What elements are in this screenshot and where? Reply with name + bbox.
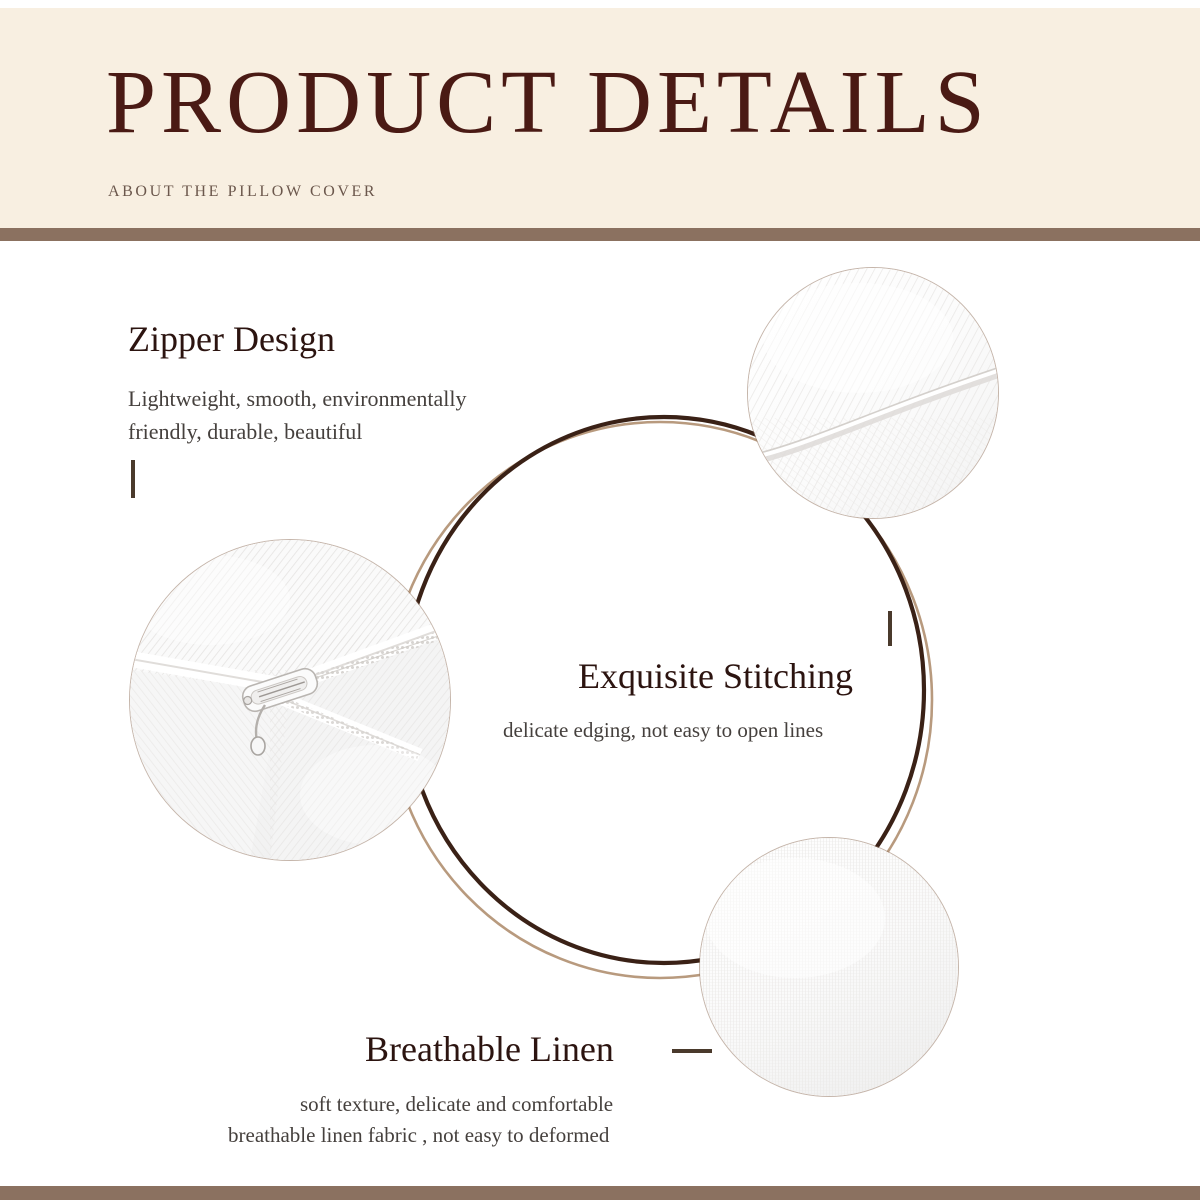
feature-title-stitching: Exquisite Stitching: [578, 655, 853, 697]
page-title: PRODUCT DETAILS: [106, 58, 990, 148]
feature-desc-stitching: delicate edging, not easy to open lines: [503, 715, 823, 747]
zipper-closeup-photo: [130, 540, 450, 860]
accent-dash-linen: [672, 1049, 712, 1053]
feature-desc-zipper-line1: Lightweight, smooth, environmentally: [128, 382, 467, 415]
product-details-infographic: PRODUCT DETAILS ABOUT THE PILLOW COVER: [0, 0, 1200, 1200]
header-divider-rule: [0, 228, 1200, 241]
accent-tick-stitching: [888, 611, 892, 646]
stitching-closeup-photo: [748, 268, 998, 518]
feature-desc-linen-line2: breathable linen fabric , not easy to de…: [228, 1120, 609, 1152]
footer-divider-rule: [0, 1186, 1200, 1200]
feature-desc-zipper: Lightweight, smooth, environmentally fri…: [128, 382, 467, 449]
page-subtitle: ABOUT THE PILLOW COVER: [108, 183, 377, 201]
feature-desc-zipper-line2: friendly, durable, beautiful: [128, 415, 467, 448]
accent-tick-zipper: [131, 460, 135, 498]
feature-title-zipper: Zipper Design: [128, 318, 335, 360]
linen-texture-photo: [700, 838, 958, 1096]
feature-title-linen: Breathable Linen: [365, 1028, 614, 1070]
feature-desc-linen-line1: soft texture, delicate and comfortable: [300, 1089, 613, 1121]
